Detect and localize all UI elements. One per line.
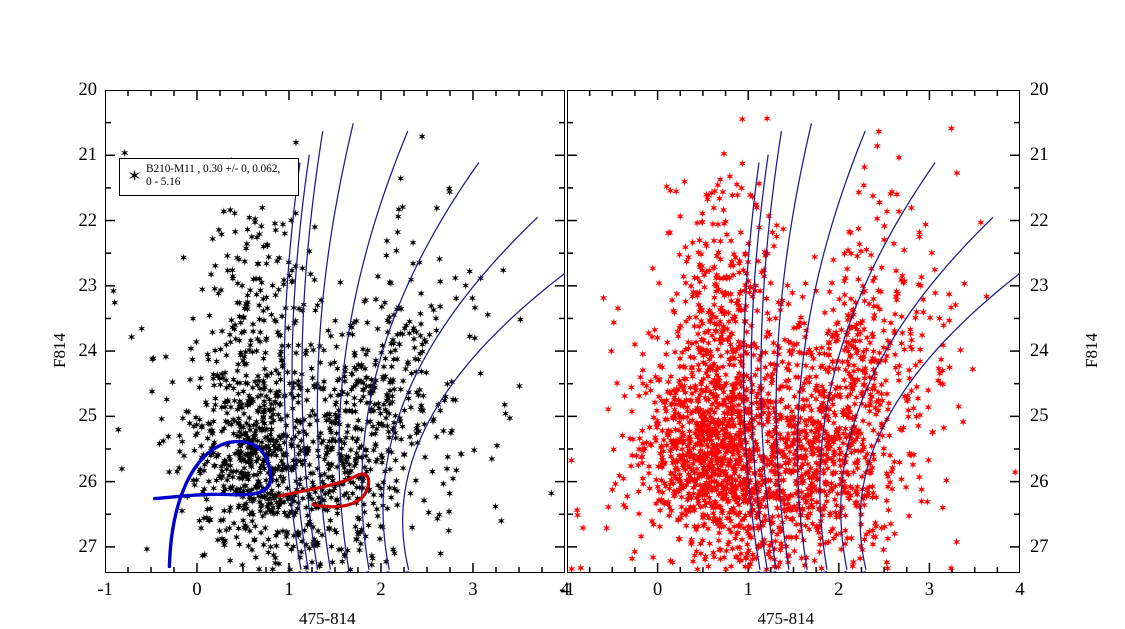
right-axis-ytick-label: 26 [1030, 472, 1068, 491]
left-axis-ytick-label: 26 [59, 472, 97, 491]
left-axis-ytick-label: 21 [59, 146, 97, 165]
right-axis-xtick-label: 1 [744, 581, 753, 600]
right-axis-xtick-label: -1 [559, 581, 574, 600]
left-axis-ytick-label: 23 [59, 277, 97, 296]
left-axis-xtick-label: -1 [97, 581, 112, 600]
left-axis-ytick-label: 22 [59, 211, 97, 230]
right-axis-xtick-label: 4 [1015, 581, 1024, 600]
right-plot-canvas [567, 90, 1020, 573]
legend-star-icon [129, 170, 140, 181]
right-axis-ytick-label: 23 [1030, 277, 1068, 296]
left-axis-ytick-label: 27 [59, 538, 97, 557]
right-axis-xtick-label: 2 [834, 581, 843, 600]
left-x-axis-title: 475-814 [299, 609, 356, 629]
left-axis-xtick-label: 0 [192, 581, 201, 600]
right-y-axis-title: F814 [1082, 333, 1102, 368]
left-axis-xtick-label: 1 [284, 581, 293, 600]
right-axis-ytick-label: 20 [1030, 81, 1068, 100]
right-plot-panel [567, 90, 1020, 573]
legend-box: B210-M11 , 0.30 +/- 0, 0.062, 0 - 5.16 [119, 158, 299, 196]
right-axis-ytick-label: 22 [1030, 211, 1068, 230]
left-axis-ytick-label: 25 [59, 407, 97, 426]
left-axis-ytick-label: 20 [59, 81, 97, 100]
left-axis-xtick-label: 2 [376, 581, 385, 600]
legend-line-1: B210-M11 , 0.30 +/- 0, 0.062, [146, 163, 295, 176]
right-x-axis-title: 475-814 [758, 609, 815, 629]
left-axis-xtick-label: 3 [468, 581, 477, 600]
left-y-axis-title: F814 [50, 333, 70, 368]
right-axis-ytick-label: 21 [1030, 146, 1068, 165]
legend-text: B210-M11 , 0.30 +/- 0, 0.062, 0 - 5.16 [146, 163, 295, 188]
right-axis-ytick-label: 27 [1030, 538, 1068, 557]
right-axis-ytick-label: 24 [1030, 342, 1068, 361]
right-axis-xtick-label: 0 [653, 581, 662, 600]
right-axis-xtick-label: 3 [925, 581, 934, 600]
right-axis-ytick-label: 25 [1030, 407, 1068, 426]
legend-line-2: 0 - 5.16 [146, 176, 295, 189]
